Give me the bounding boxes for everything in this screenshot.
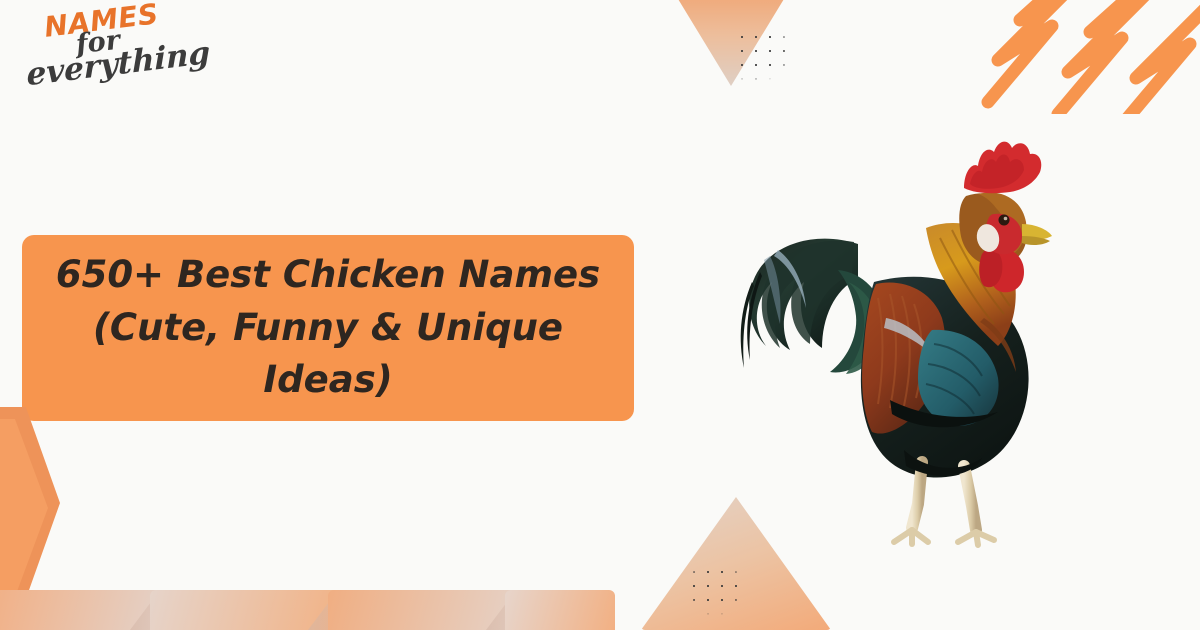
chevron-right-front-icon <box>0 419 48 597</box>
dot-grid-icon <box>735 30 797 82</box>
mountain-shape-4 <box>505 590 615 630</box>
title-card: 650+ Best Chicken Names (Cute, Funny & U… <box>22 235 634 421</box>
page-title: 650+ Best Chicken Names (Cute, Funny & U… <box>48 249 608 407</box>
site-logo[interactable]: NAMES for everything <box>22 2 202 94</box>
dot-grid-bottom-icon <box>687 565 747 615</box>
zigzag-scribble-icon <box>980 0 1200 114</box>
rooster-photo <box>726 132 1066 552</box>
featured-image-canvas: NAMES for everything 650+ Best Chicken N… <box>0 0 1200 630</box>
